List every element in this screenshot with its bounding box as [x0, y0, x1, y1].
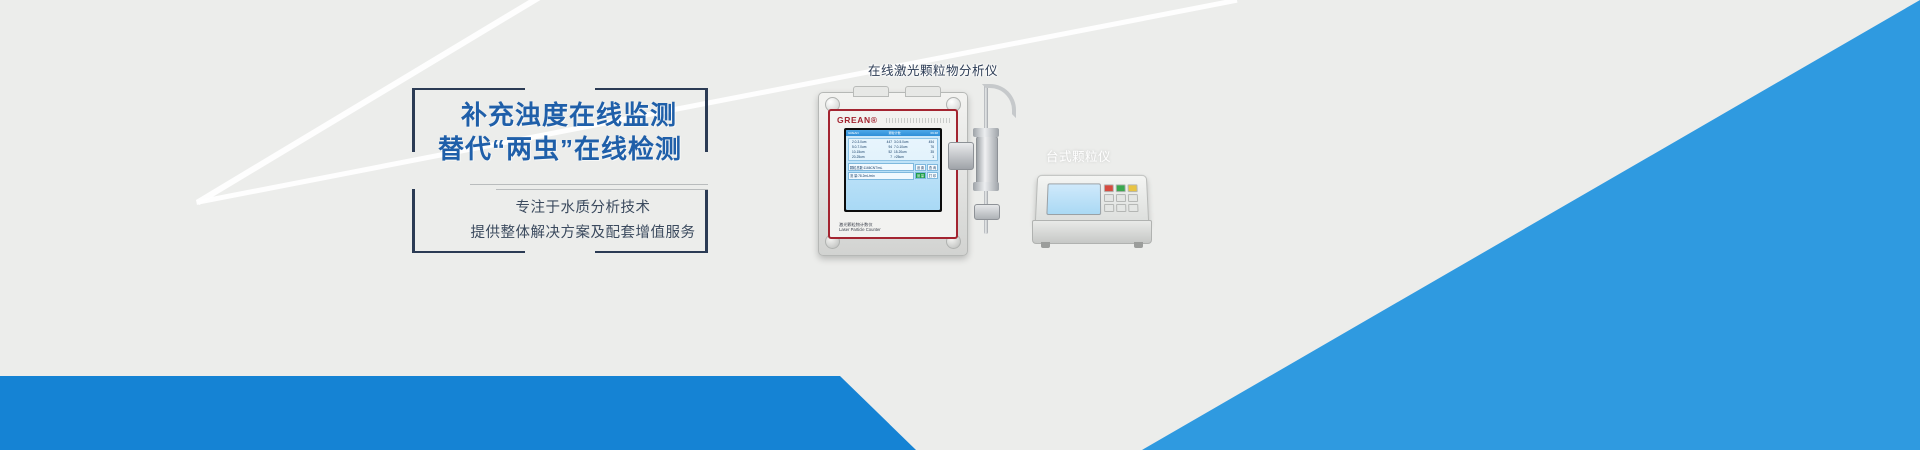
- divider-line-1: [470, 184, 708, 185]
- pipe-valve: [974, 204, 1000, 220]
- banner-root: 补充浊度在线监测 替代“两虫”在线检测 专注于水质分析技术 提供整体解决方案及配…: [0, 0, 1920, 450]
- table-row: 2.0-3.0um447 3.0-5.0um454: [850, 140, 936, 145]
- count-value: 454: [929, 140, 934, 144]
- lcd-status-row-1: 颗粒总数:1166CNT/mL 设 置 查 询: [848, 163, 938, 171]
- benchtop-particle-counter: [1036, 174, 1146, 252]
- size-range: 10-15um: [852, 150, 865, 154]
- bench-key[interactable]: [1104, 194, 1114, 202]
- pipe-collar-top: [973, 128, 999, 137]
- headline-line-1: 补充浊度在线监测: [412, 98, 708, 132]
- count-value: 76: [930, 145, 934, 149]
- table-row: 20-25um7 >25um1: [850, 154, 936, 159]
- size-range: >25um: [894, 155, 904, 159]
- lcd-button-print[interactable]: 打 印: [927, 172, 938, 179]
- analyzer-nameplate: 激光颗粒物计数仪 Laser Particle Counter: [839, 222, 881, 233]
- count-value: 7: [890, 155, 892, 159]
- bench-key[interactable]: [1127, 194, 1138, 202]
- pipe-sensor-body: [976, 136, 998, 186]
- online-laser-particle-analyzer: GREAN® GREAN 颗粒计数 09:48 2.0-3.0um447 3.0…: [818, 92, 968, 256]
- bench-key[interactable]: [1104, 204, 1115, 212]
- bench-key[interactable]: [1104, 184, 1114, 192]
- analyzer-display-bezel: GREAN 颗粒计数 09:48 2.0-3.0um447 3.0-5.0um4…: [844, 128, 942, 212]
- pipe-bend: [982, 84, 1016, 118]
- bench-key[interactable]: [1116, 194, 1127, 202]
- sensor-pipe-assembly: [970, 84, 1010, 234]
- pipe-side-port: [948, 142, 974, 170]
- bench-foot-left: [1041, 242, 1050, 248]
- bench-key[interactable]: [1116, 204, 1127, 212]
- lcd-titlebar: GREAN 颗粒计数 09:48: [846, 130, 940, 136]
- size-range: 15-20um: [894, 150, 907, 154]
- divider-group: [470, 184, 708, 190]
- pipe-collar-bottom: [973, 182, 999, 191]
- callout-analyzer-label: 在线激光颗粒物分析仪: [868, 60, 998, 79]
- lcd-button-query[interactable]: 查 询: [927, 164, 938, 171]
- table-row: 10-15um52 15-20um35: [850, 150, 936, 155]
- count-value: 52: [888, 150, 892, 154]
- size-range: 3.0-5.0um: [894, 140, 908, 144]
- nameplate-en: Laser Particle Counter: [839, 227, 881, 233]
- bench-key[interactable]: [1116, 184, 1126, 192]
- subtitle-line-1: 专注于水质分析技术: [458, 196, 708, 221]
- headline: 补充浊度在线监测 替代“两虫”在线检测: [412, 98, 708, 167]
- size-range: 7.0-10um: [894, 145, 907, 149]
- bench-display: [1046, 183, 1101, 215]
- bench-key[interactable]: [1128, 204, 1139, 212]
- bench-lower-housing: [1032, 220, 1152, 244]
- lcd-title-left: GREAN: [848, 131, 859, 135]
- analyzer-top-cap-left: [853, 86, 889, 97]
- count-value: 35: [930, 150, 934, 154]
- size-range: 2.0-3.0um: [852, 140, 866, 144]
- lcd-title-right: 09:48: [930, 131, 938, 135]
- bench-key[interactable]: [1127, 184, 1138, 192]
- analyzer-front-panel: GREAN® GREAN 颗粒计数 09:48 2.0-3.0um447 3.0…: [828, 109, 958, 239]
- divider-line-2: [496, 189, 708, 190]
- lcd-status-area: 颗粒总数:1166CNT/mL 设 置 查 询 流 量:78.2mL/min 测…: [848, 163, 938, 180]
- count-value: 94: [888, 145, 892, 149]
- lcd-title-center: 颗粒计数: [889, 131, 901, 135]
- lcd-screen[interactable]: GREAN 颗粒计数 09:48 2.0-3.0um447 3.0-5.0um4…: [846, 130, 940, 210]
- size-range: 20-25um: [852, 155, 865, 159]
- subtitle-group: 专注于水质分析技术 提供整体解决方案及配套增值服务: [458, 196, 708, 247]
- bench-upper-housing: [1035, 175, 1149, 224]
- product-image-group: GREAN® GREAN 颗粒计数 09:48 2.0-3.0um447 3.0…: [800, 78, 1160, 308]
- size-range: 5.0-7.0um: [852, 145, 866, 149]
- analyzer-top-cap-right: [905, 86, 941, 97]
- lcd-button-settings[interactable]: 设 置: [915, 164, 926, 171]
- total-count-field: 颗粒总数:1166CNT/mL: [848, 163, 914, 171]
- count-value: 447: [887, 140, 892, 144]
- lcd-status-row-2: 流 量:78.2mL/min 测 量 打 印: [848, 172, 938, 180]
- lcd-data-table: 2.0-3.0um447 3.0-5.0um454 5.0-7.0um94 7.…: [848, 138, 938, 161]
- brand-grille: [886, 118, 950, 123]
- flow-rate-field: 流 量:78.2mL/min: [848, 172, 914, 180]
- count-value: 1: [932, 155, 934, 159]
- bench-keypad[interactable]: [1104, 184, 1139, 212]
- headline-panel: 补充浊度在线监测 替代“两虫”在线检测 专注于水质分析技术 提供整体解决方案及配…: [412, 88, 708, 253]
- bench-foot-right: [1134, 242, 1143, 248]
- subtitle-line-2: 提供整体解决方案及配套增值服务: [458, 221, 708, 246]
- table-row: 5.0-7.0um94 7.0-10um76: [850, 145, 936, 150]
- lcd-button-measure[interactable]: 测 量: [915, 172, 926, 179]
- headline-line-2: 替代“两虫”在线检测: [412, 132, 708, 166]
- brand-logo: GREAN®: [837, 115, 878, 125]
